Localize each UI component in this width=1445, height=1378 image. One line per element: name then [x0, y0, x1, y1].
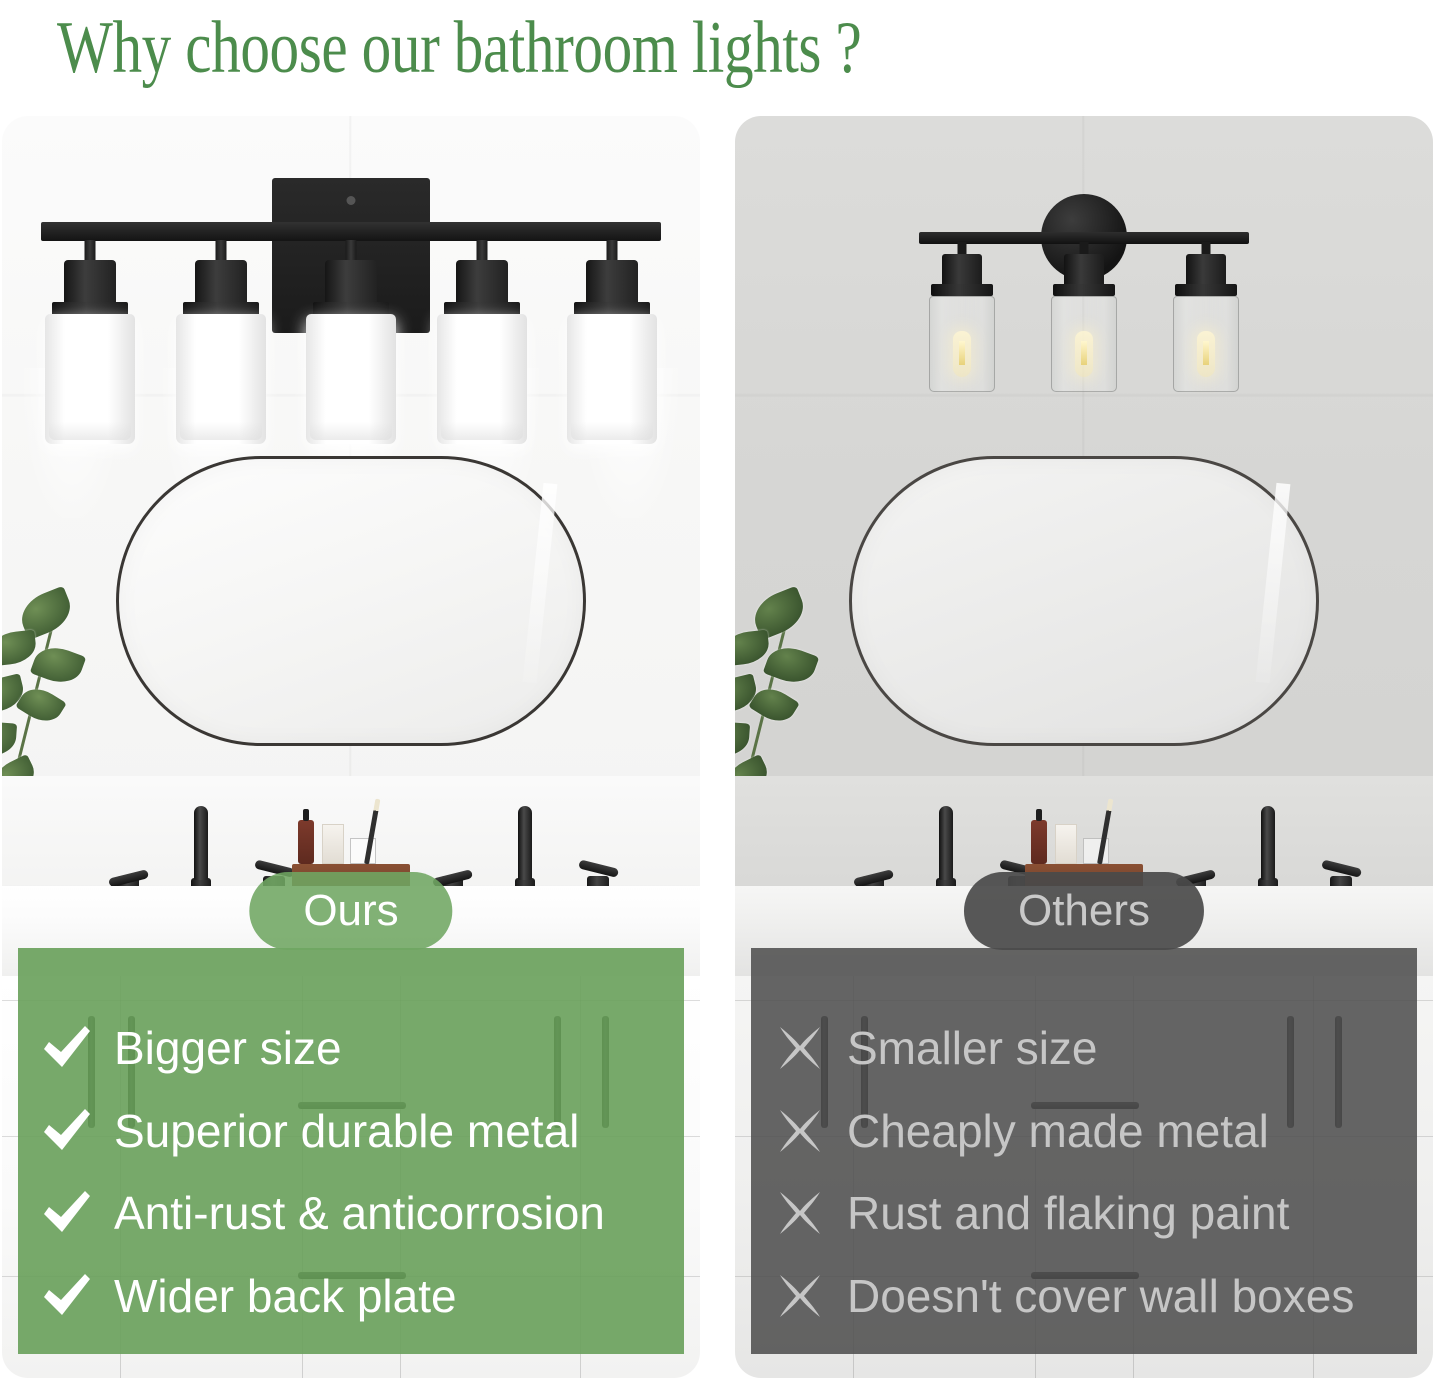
lamp-head	[172, 240, 270, 440]
feature-row: Smaller size	[773, 1024, 1417, 1072]
feature-label: Rust and flaking paint	[847, 1189, 1289, 1237]
faucet-spout	[188, 806, 214, 892]
lamp-head	[919, 242, 1005, 392]
lamp-collar	[931, 284, 993, 296]
badge-ours: Ours	[249, 872, 452, 950]
frosted-glass-shade	[306, 314, 396, 444]
lamp-head	[1041, 242, 1127, 392]
lamp-head	[433, 240, 531, 440]
lamp-collar	[1053, 284, 1115, 296]
frosted-glass-shade	[176, 314, 266, 444]
feature-row: Bigger size	[40, 1024, 684, 1072]
feature-label: Anti-rust & anticorrosion	[114, 1189, 605, 1237]
faucet-spout	[512, 806, 538, 892]
plant-leaf	[735, 630, 771, 667]
feature-label: Doesn't cover wall boxes	[847, 1272, 1354, 1320]
lamp-socket	[1064, 254, 1104, 288]
fixture-cross-bar	[41, 222, 661, 241]
faucet-set-right	[1175, 806, 1361, 892]
feature-row: Superior durable metal	[40, 1107, 684, 1155]
feature-list-others: Smaller size Cheaply made metal Rust and…	[751, 948, 1417, 1354]
frosted-glass-shade	[45, 314, 135, 444]
lamp-socket	[942, 254, 982, 288]
checkmark-icon	[40, 1190, 94, 1236]
page-title: Why choose our bathroom lights ?	[57, 11, 861, 85]
bathroom-mirror	[849, 456, 1319, 746]
cross-x-icon	[773, 1273, 827, 1319]
lamp-head	[302, 240, 400, 440]
clear-glass-shade	[929, 296, 995, 392]
comparison-column-ours: Ours Bigger size Superior durable metal	[2, 116, 700, 1378]
faucet-spout	[933, 806, 959, 892]
product-box	[1055, 824, 1077, 864]
feature-label: Cheaply made metal	[847, 1107, 1269, 1155]
frosted-glass-shade	[437, 314, 527, 444]
bathroom-mirror	[116, 456, 586, 746]
lamp-collar	[1175, 284, 1237, 296]
lamp-head	[1163, 242, 1249, 392]
faucet-set-right	[432, 806, 618, 892]
feature-row: Doesn't cover wall boxes	[773, 1272, 1417, 1320]
cross-x-icon	[773, 1025, 827, 1071]
shade-row	[919, 242, 1249, 392]
cross-x-icon	[773, 1190, 827, 1236]
feature-label: Smaller size	[847, 1024, 1098, 1072]
edison-bulb	[1075, 331, 1093, 377]
comparison-stage: Ours Bigger size Superior durable metal	[0, 96, 1445, 1378]
checkmark-icon	[40, 1108, 94, 1154]
feature-label: Wider back plate	[114, 1272, 457, 1320]
checkmark-icon	[40, 1025, 94, 1071]
feature-row: Rust and flaking paint	[773, 1189, 1417, 1237]
feature-row: Cheaply made metal	[773, 1107, 1417, 1155]
plant-leaf	[735, 720, 750, 757]
clear-glass-shade	[1051, 296, 1117, 392]
cross-x-icon	[773, 1108, 827, 1154]
feature-label: Superior durable metal	[114, 1107, 579, 1155]
checkmark-icon	[40, 1273, 94, 1319]
comparison-column-others: Others Smaller size Cheaply made metal	[735, 116, 1433, 1378]
plant-leaf	[2, 630, 38, 667]
edison-bulb	[1197, 331, 1215, 377]
feature-row: Wider back plate	[40, 1272, 684, 1320]
feature-label: Bigger size	[114, 1024, 342, 1072]
dropper-bottle	[298, 820, 314, 864]
frosted-glass-shade	[567, 314, 657, 444]
vanity-light-fixture-ours	[41, 178, 661, 398]
lamp-head	[563, 240, 661, 440]
badge-others: Others	[964, 872, 1204, 950]
shade-row	[41, 240, 661, 440]
vanity-light-fixture-others	[919, 194, 1249, 394]
lamp-head	[41, 240, 139, 440]
faucet-spout	[1255, 806, 1281, 892]
clear-glass-shade	[1173, 296, 1239, 392]
edison-bulb	[953, 331, 971, 377]
lamp-socket	[1186, 254, 1226, 288]
dropper-bottle	[1031, 820, 1047, 864]
page-header: Why choose our bathroom lights ?	[0, 0, 1445, 96]
feature-row: Anti-rust & anticorrosion	[40, 1189, 684, 1237]
feature-list-ours: Bigger size Superior durable metal Anti-…	[18, 948, 684, 1354]
product-box	[322, 824, 344, 864]
plant-leaf	[2, 720, 17, 757]
